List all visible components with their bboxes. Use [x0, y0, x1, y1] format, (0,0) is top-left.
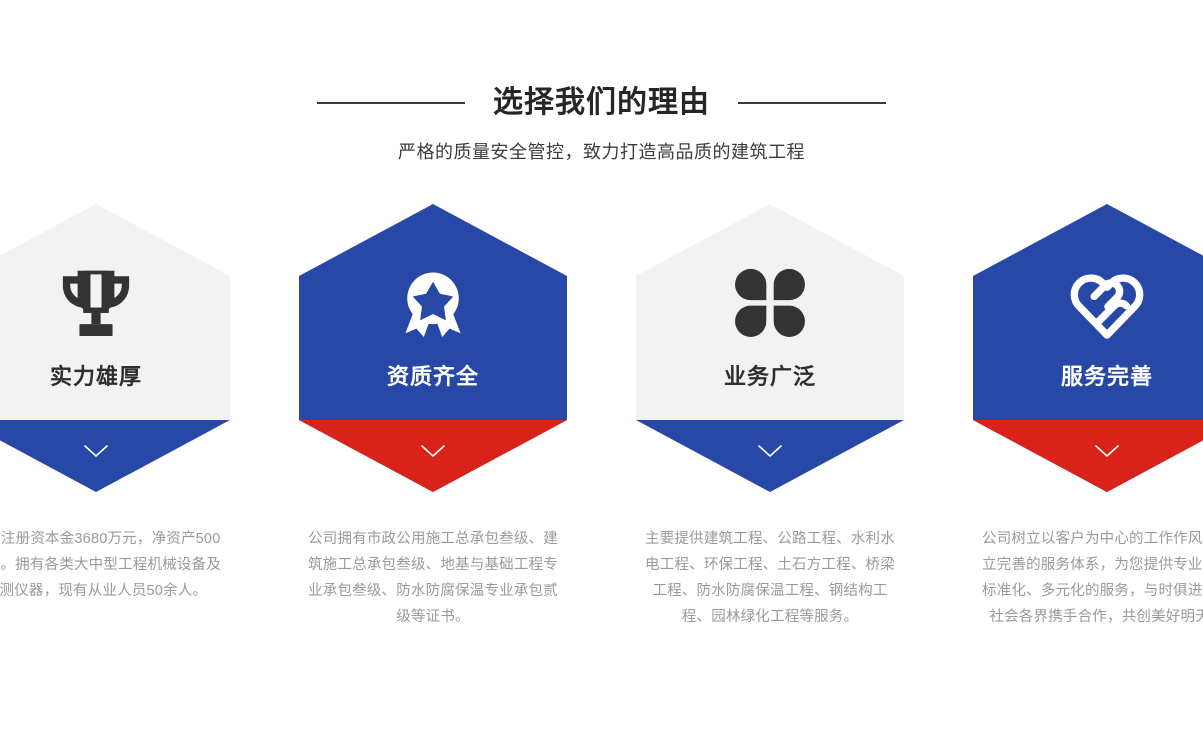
card-title: 资质齐全	[387, 362, 479, 392]
card-description: 公司注册资本金3680万元，净资产500万元。拥有各类大中型工程机械设备及检测仪…	[0, 526, 221, 604]
chevron-down-icon	[420, 444, 446, 458]
chevron-down-icon	[757, 444, 783, 458]
card-title: 服务完善	[1061, 362, 1153, 392]
card-title: 实力雄厚	[50, 362, 142, 392]
trophy-icon	[50, 256, 142, 348]
title-rule-left	[317, 102, 465, 104]
four-petal-clover-icon	[724, 256, 816, 348]
feature-card[interactable]: 实力雄厚 公司注册资本金3680万元，净资产500万元。拥有各类大中型工程机械设…	[0, 204, 230, 604]
hexagon-badge[interactable]: 实力雄厚	[0, 204, 230, 492]
why-choose-us-section: 选择我们的理由 严格的质量安全管控，致力打造高品质的建筑工程	[0, 0, 1203, 736]
chevron-down-icon	[1094, 444, 1120, 458]
card-description: 公司拥有市政公用施工总承包叁级、建筑施工总承包叁级、地基与基础工程专业承包叁级、…	[308, 526, 558, 630]
hexagon-content: 服务完善	[973, 204, 1203, 492]
card-description: 主要提供建筑工程、公路工程、水利水电工程、环保工程、土石方工程、桥梁工程、防水防…	[645, 526, 895, 630]
feature-card-list: 实力雄厚 公司注册资本金3680万元，净资产500万元。拥有各类大中型工程机械设…	[0, 204, 1203, 630]
feature-card[interactable]: 资质齐全 公司拥有市政公用施工总承包叁级、建筑施工总承包叁级、地基与基础工程专业…	[299, 204, 567, 630]
section-header: 选择我们的理由 严格的质量安全管控，致力打造高品质的建筑工程	[0, 80, 1203, 166]
heart-handshake-icon	[1061, 256, 1153, 348]
chevron-down-icon	[83, 444, 109, 458]
medal-ribbon-icon	[387, 256, 479, 348]
card-description: 公司树立以客户为中心的工作作风，建立完善的服务体系，为您提供专业化、标准化、多元…	[982, 526, 1203, 630]
hexagon-content: 实力雄厚	[0, 204, 230, 492]
hexagon-badge[interactable]: 业务广泛	[636, 204, 904, 492]
feature-card[interactable]: 业务广泛 主要提供建筑工程、公路工程、水利水电工程、环保工程、土石方工程、桥梁工…	[636, 204, 904, 630]
card-title: 业务广泛	[724, 362, 816, 392]
hexagon-badge[interactable]: 服务完善	[973, 204, 1203, 492]
section-subtitle: 严格的质量安全管控，致力打造高品质的建筑工程	[0, 138, 1203, 166]
page-title: 选择我们的理由	[493, 83, 710, 123]
hexagon-badge[interactable]: 资质齐全	[299, 204, 567, 492]
feature-card[interactable]: 服务完善 公司树立以客户为中心的工作作风，建立完善的服务体系，为您提供专业化、标…	[973, 204, 1203, 630]
title-rule-right	[738, 102, 886, 104]
title-row: 选择我们的理由	[0, 80, 1203, 126]
